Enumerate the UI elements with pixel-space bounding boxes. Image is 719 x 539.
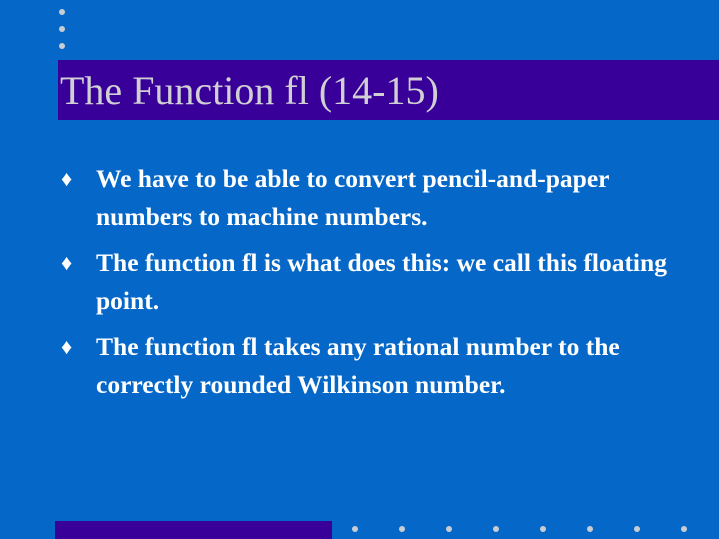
slide-title: The Function fl (14-15)	[60, 62, 700, 120]
decorative-dot-icon	[352, 526, 358, 532]
decorative-dot-icon	[446, 526, 452, 532]
decorative-dot-icon	[634, 526, 640, 532]
list-item: ♦ The function fl is what does this: we …	[58, 244, 698, 320]
list-item-text: The function fl takes any rational numbe…	[96, 328, 698, 404]
diamond-bullet-icon: ♦	[61, 328, 85, 366]
decorative-dot-icon	[681, 526, 687, 532]
top-decorative-dots	[59, 8, 67, 56]
list-item-text: We have to be able to convert pencil-and…	[96, 160, 698, 236]
list-item-text: The function fl is what does this: we ca…	[96, 244, 698, 320]
decorative-dot-icon	[587, 526, 593, 532]
diamond-bullet-icon: ♦	[61, 244, 85, 282]
bottom-decorative-dots	[352, 526, 712, 534]
list-item: ♦ The function fl takes any rational num…	[58, 328, 698, 404]
decorative-dot-icon	[59, 26, 65, 32]
bullet-list: ♦ We have to be able to convert pencil-a…	[58, 160, 698, 412]
decorative-dot-icon	[493, 526, 499, 532]
decorative-dot-icon	[59, 9, 65, 15]
slide-canvas: The Function fl (14-15) ♦ We have to be …	[0, 0, 719, 539]
decorative-dot-icon	[399, 526, 405, 532]
diamond-bullet-icon: ♦	[61, 160, 85, 198]
decorative-dot-icon	[540, 526, 546, 532]
decorative-dot-icon	[59, 43, 65, 49]
bottom-accent-bar	[55, 521, 332, 539]
list-item: ♦ We have to be able to convert pencil-a…	[58, 160, 698, 236]
